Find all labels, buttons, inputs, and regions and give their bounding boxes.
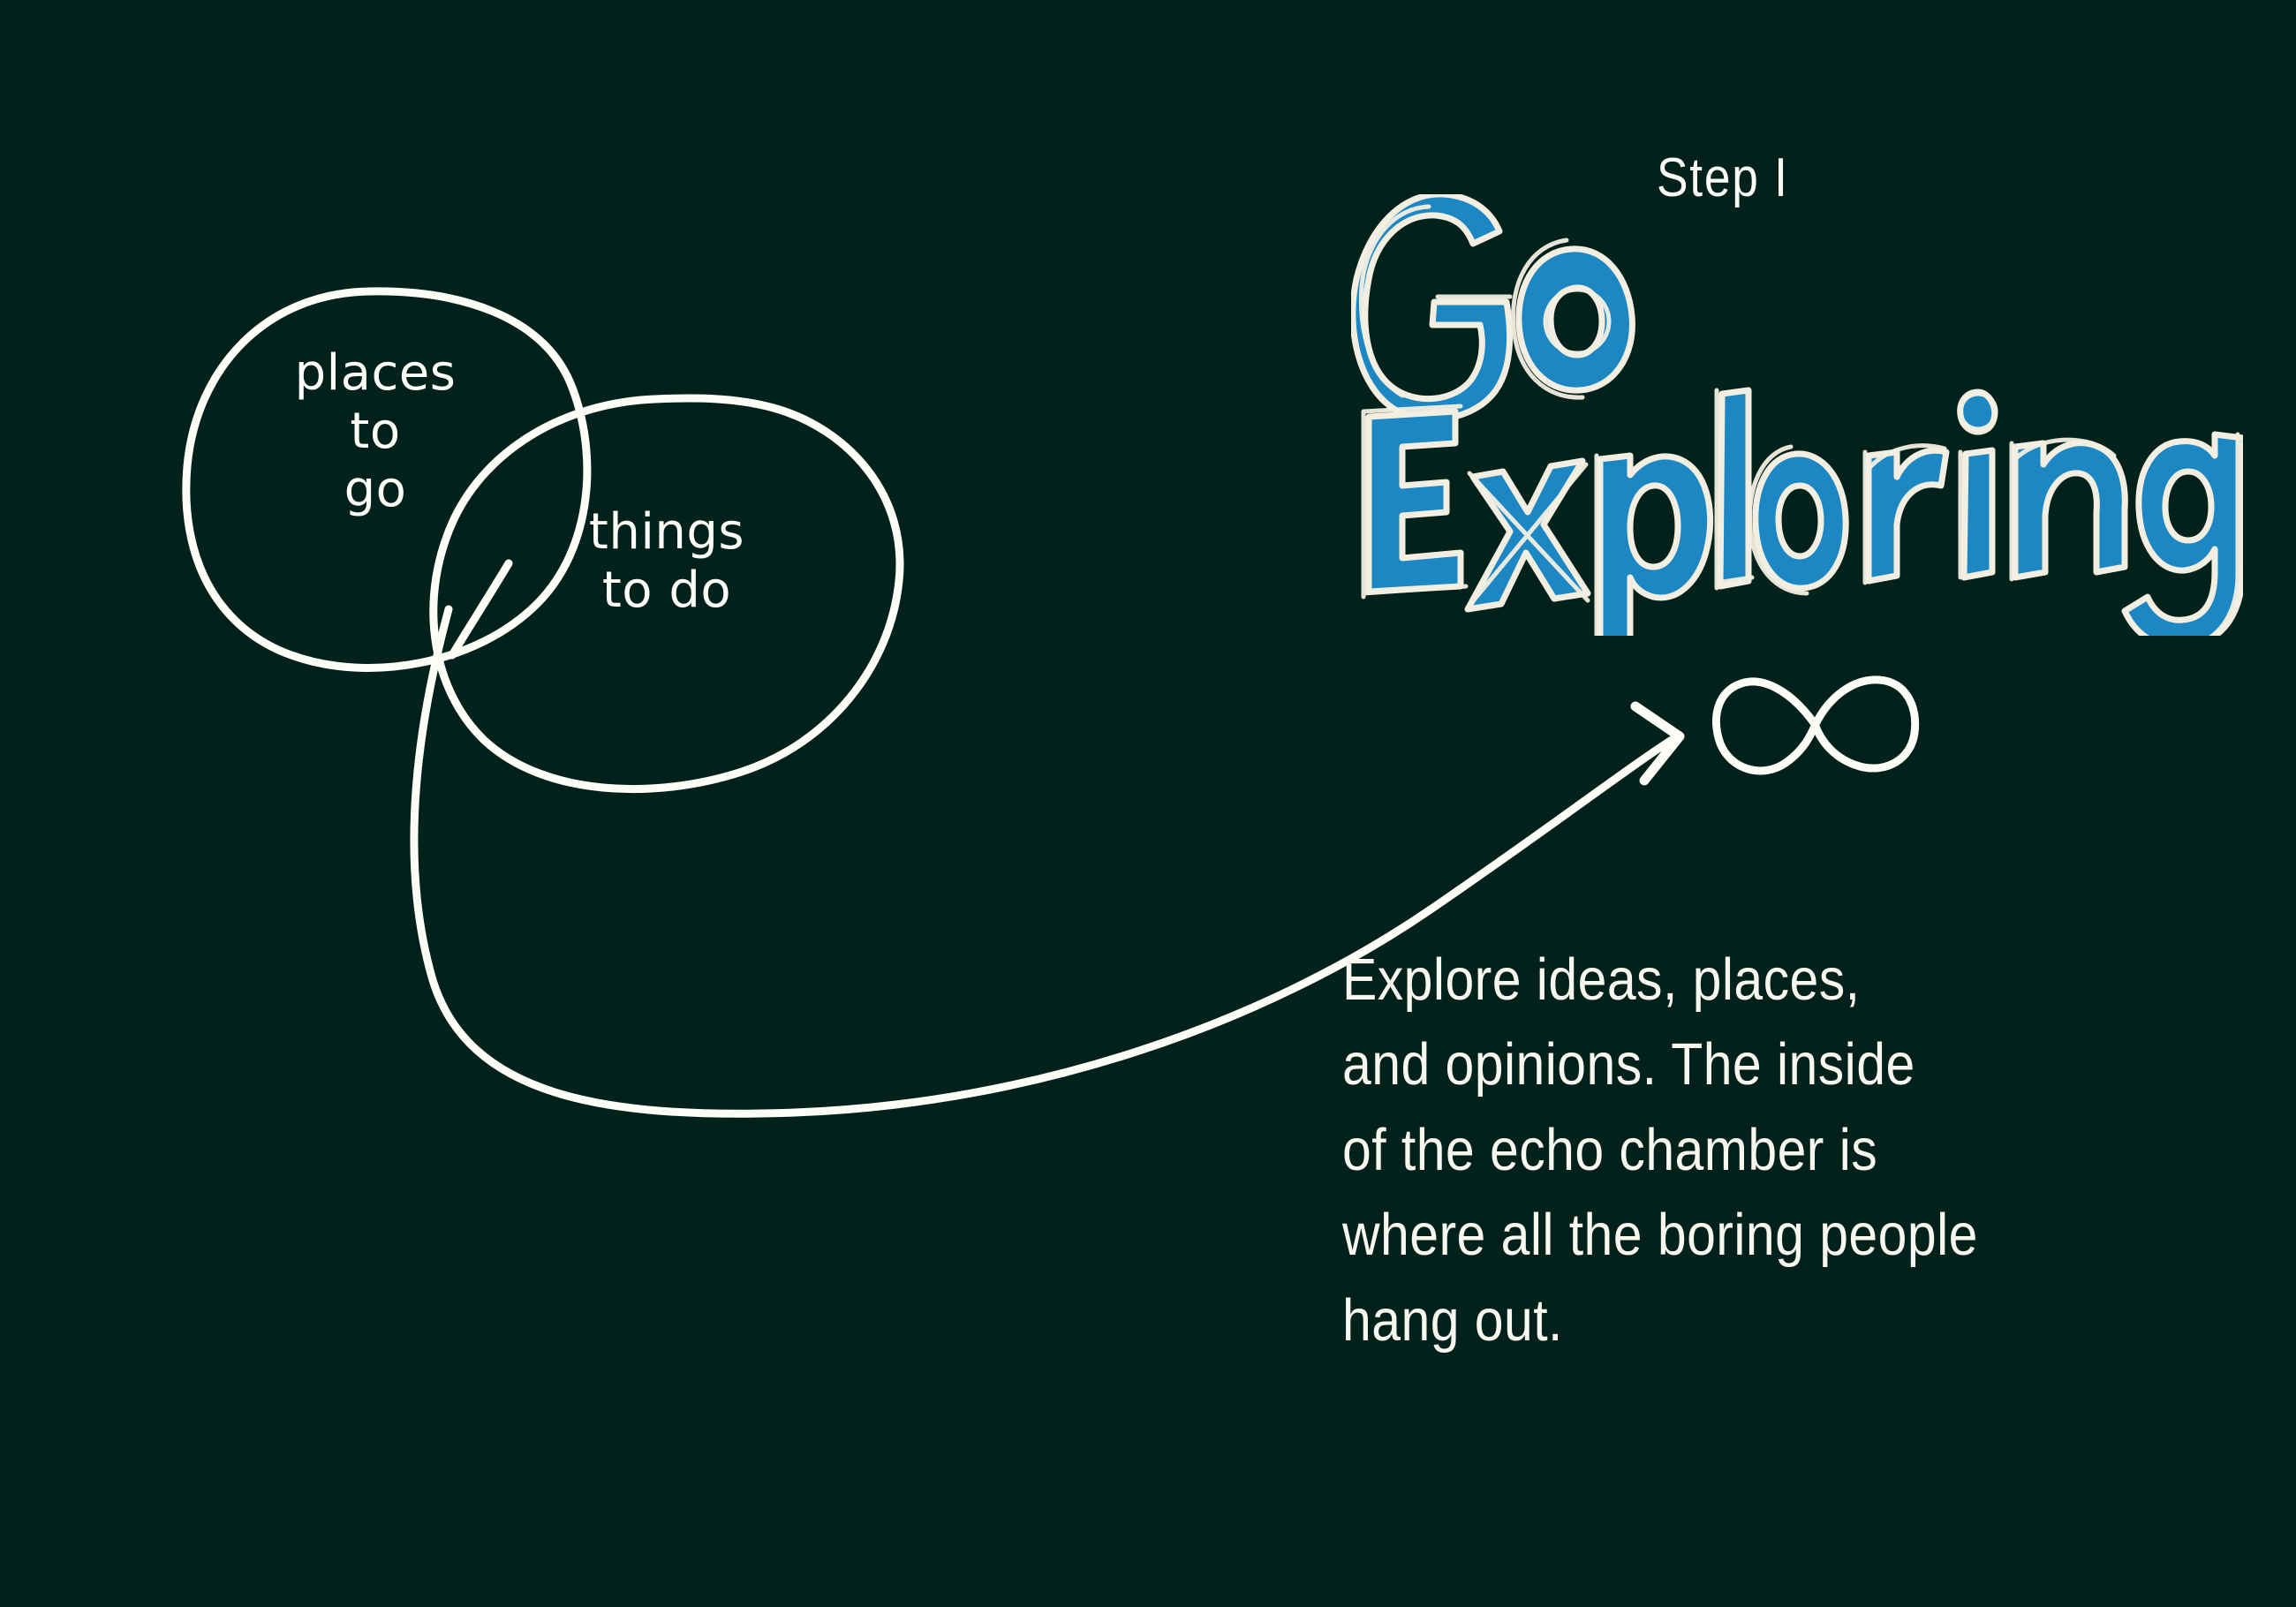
title-word-go: [1353, 194, 1633, 419]
body-paragraph: Explore ideas, places, and opinions. The…: [1342, 938, 2119, 1363]
arrowhead: [1635, 706, 1680, 781]
venn-label-things-to-do: things to do: [495, 503, 839, 620]
title-word-exploring: [1363, 390, 2243, 636]
infinity-icon: [1716, 680, 1915, 771]
title-lettering: .bluefill { fill: #1c87c2; stroke: #f2ef…: [1351, 194, 2243, 636]
page-title: .bluefill { fill: #1c87c2; stroke: #f2ef…: [1351, 194, 2243, 636]
slide-canvas: places to go things to do Step I .bluefi…: [0, 0, 2296, 1607]
venn-label-places-to-go: places to go: [203, 344, 548, 519]
